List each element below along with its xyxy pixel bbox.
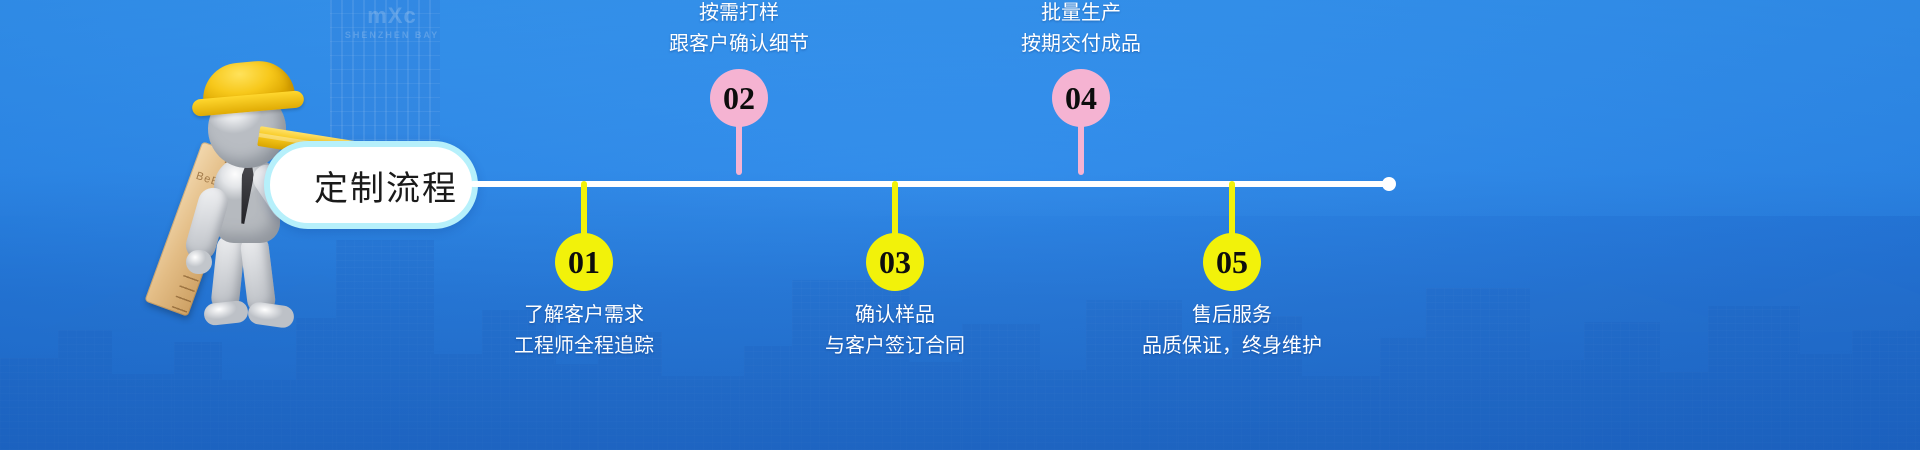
step-caption-line1-05: 售后服务	[1032, 299, 1432, 330]
banner-stage: mXc SHENZHEN BAY BeBrAcS1O 定制流程 01了解客	[0, 0, 1920, 450]
step-caption-line2-04: 按期交付成品	[881, 28, 1281, 59]
timeline-end-dot	[1382, 177, 1396, 191]
step-connector-04	[1078, 123, 1084, 175]
step-number-badge-03[interactable]: 03	[866, 233, 924, 291]
step-number-badge-02[interactable]: 02	[710, 69, 768, 127]
step-connector-03	[892, 181, 898, 237]
step-connector-05	[1229, 181, 1235, 237]
step-caption-line2-02: 跟客户确认细节	[539, 28, 939, 59]
step-caption-02: 按需打样跟客户确认细节	[539, 0, 939, 59]
page-title: 定制流程	[284, 161, 458, 210]
step-caption-05: 售后服务品质保证，终身维护	[1032, 299, 1432, 361]
step-connector-02	[736, 123, 742, 175]
step-number-badge-01[interactable]: 01	[555, 233, 613, 291]
step-connector-01	[581, 181, 587, 237]
step-caption-line1-04: 批量生产	[881, 0, 1281, 28]
step-caption-line2-05: 品质保证，终身维护	[1032, 330, 1432, 361]
step-number-badge-04[interactable]: 04	[1052, 69, 1110, 127]
step-caption-04: 批量生产按期交付成品	[881, 0, 1281, 59]
process-title-pill: 定制流程	[264, 141, 478, 229]
step-number-badge-05[interactable]: 05	[1203, 233, 1261, 291]
timeline-track	[470, 181, 1392, 187]
step-caption-line1-02: 按需打样	[539, 0, 939, 28]
